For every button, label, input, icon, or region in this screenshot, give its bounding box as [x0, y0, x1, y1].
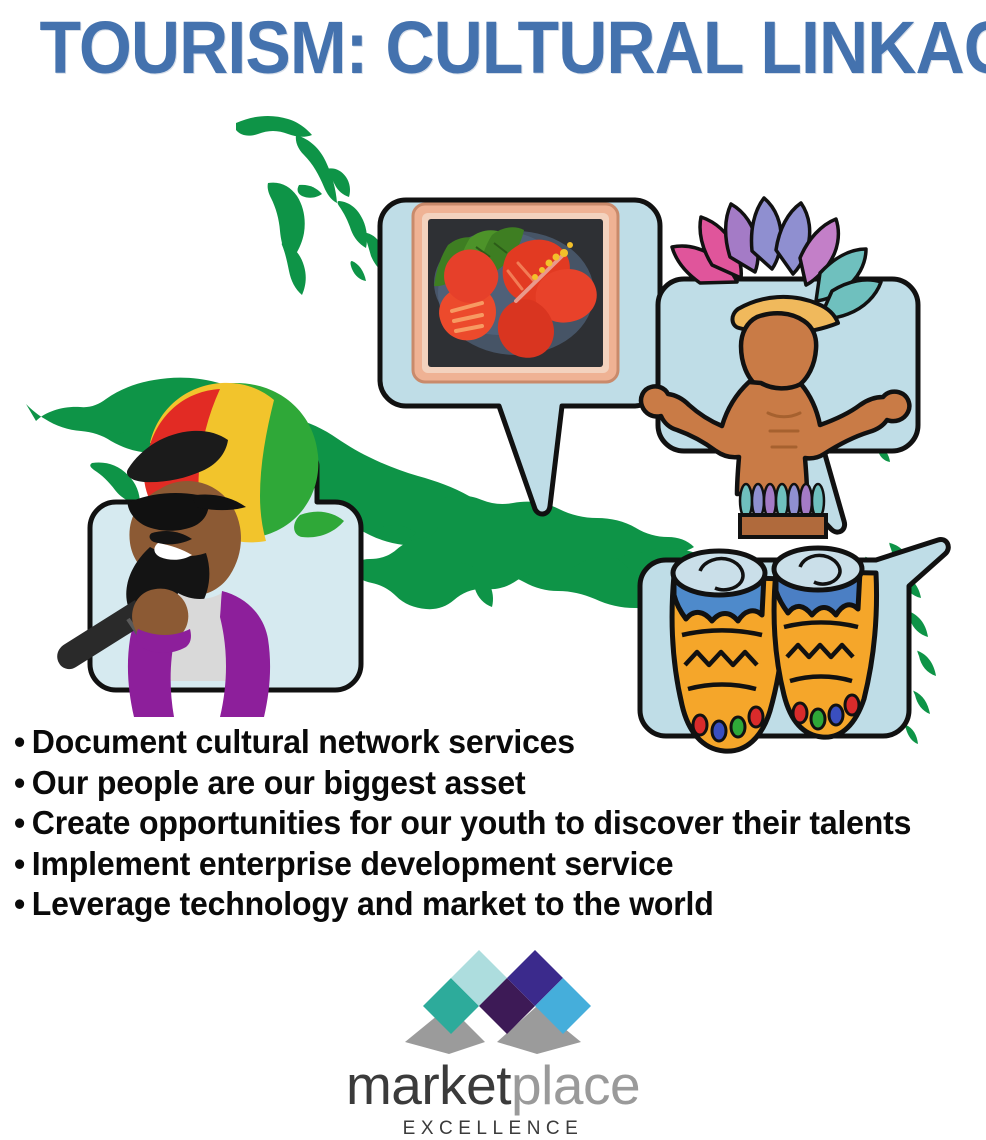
bullet-marker: •	[14, 803, 32, 844]
bullet-text: Our people are our biggest asset	[32, 764, 526, 801]
logo-word-market: market	[346, 1054, 511, 1116]
logo-diamond-mark	[393, 942, 593, 1058]
bullet-list: •Document cultural network services •Our…	[14, 722, 980, 925]
bullet-text: Implement enterprise development service	[32, 845, 674, 882]
artwork-region	[0, 95, 986, 755]
list-item: •Leverage technology and market to the w…	[14, 884, 951, 925]
bullet-text: Leverage technology and market to the wo…	[32, 885, 714, 922]
conga-drum-right	[774, 548, 877, 737]
taino-dancer-bubble[interactable]	[641, 198, 918, 537]
bullet-marker: •	[14, 763, 32, 804]
list-item: •Document cultural network services	[14, 722, 951, 763]
page-title: TOURISM: CULTURAL LINKAGES	[39, 8, 946, 88]
bullet-marker: •	[14, 722, 32, 763]
dancer-skirt	[740, 484, 824, 518]
logo-word-place: place	[511, 1054, 640, 1116]
logo-wordmark: marketplace	[0, 1056, 986, 1114]
bullet-text: Create opportunities for our youth to di…	[32, 804, 911, 841]
slide-canvas: TOURISM: CULTURAL LINKAGES	[0, 0, 986, 1134]
bullet-text: Document cultural network services	[32, 723, 575, 760]
bullet-marker: •	[14, 884, 32, 925]
hibiscus-painting-bubble[interactable]	[380, 200, 660, 514]
conga-drums-bubble[interactable]	[640, 539, 948, 751]
list-item: •Our people are our biggest asset	[14, 763, 951, 804]
logo-subtitle: EXCELLENCE	[0, 1118, 986, 1140]
list-item: •Create opportunities for our youth to d…	[14, 803, 951, 844]
bullet-marker: •	[14, 844, 32, 885]
marketplace-excellence-logo: marketplace EXCELLENCE	[0, 940, 986, 1134]
list-item: •Implement enterprise development servic…	[14, 844, 951, 885]
